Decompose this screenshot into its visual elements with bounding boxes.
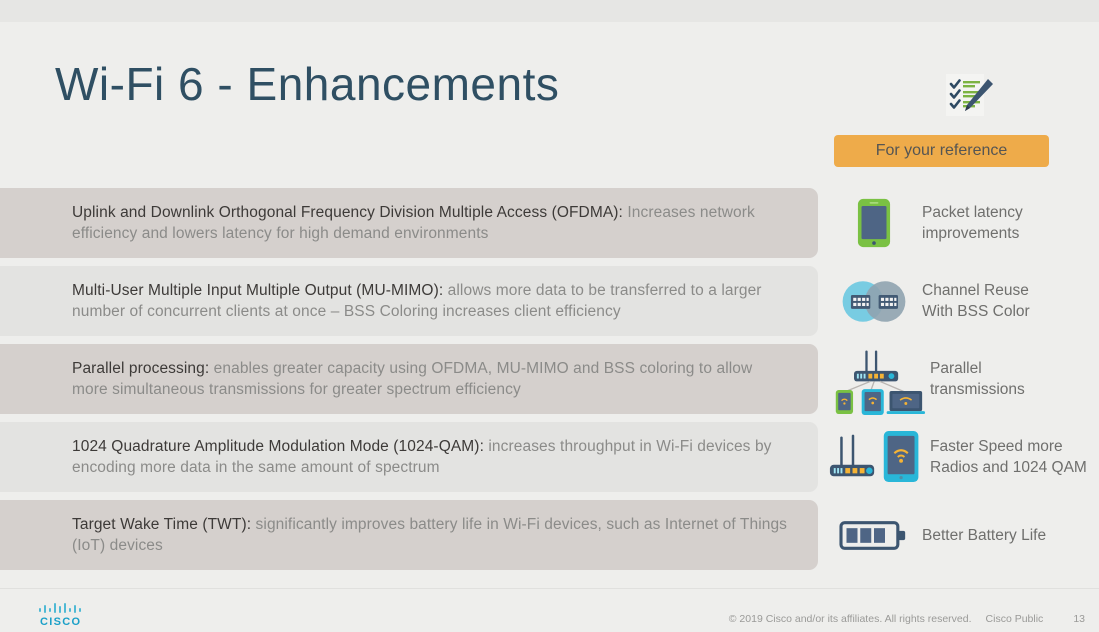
list-item: Target Wake Time (TWT): significantly im… bbox=[0, 500, 1099, 570]
row-text-panel: Uplink and Downlink Orthogonal Frequency… bbox=[0, 188, 818, 258]
footer-classification: Cisco Public bbox=[986, 613, 1044, 625]
battery-icon bbox=[826, 504, 922, 566]
row-side-panel: Parallel transmissions bbox=[826, 344, 1099, 414]
row-label: Channel Reuse With BSS Color bbox=[922, 280, 1030, 322]
row-description: Parallel processing: enables greater cap… bbox=[72, 358, 792, 400]
footer-divider bbox=[0, 588, 1099, 589]
row-lead: Target Wake Time (TWT): bbox=[72, 516, 251, 533]
checklist-pen-icon bbox=[940, 70, 998, 122]
overlapping-cells-icon bbox=[826, 270, 922, 332]
page-title: Wi-Fi 6 - Enhancements bbox=[55, 57, 559, 111]
row-text-panel: Parallel processing: enables greater cap… bbox=[0, 344, 818, 414]
row-label: Parallel transmissions bbox=[930, 358, 1025, 400]
row-lead: Uplink and Downlink Orthogonal Frequency… bbox=[72, 204, 623, 221]
row-label: Faster Speed more Radios and 1024 QAM bbox=[930, 436, 1087, 478]
for-your-reference-badge: For your reference bbox=[834, 135, 1049, 167]
list-item: Uplink and Downlink Orthogonal Frequency… bbox=[0, 188, 1099, 258]
row-text-panel: Multi-User Multiple Input Multiple Outpu… bbox=[0, 266, 818, 336]
svg-text:CISCO: CISCO bbox=[40, 616, 81, 627]
row-side-panel: Packet latency improvements bbox=[826, 188, 1099, 258]
ref-badge-label: For your reference bbox=[876, 142, 1008, 160]
enhancement-list: Uplink and Downlink Orthogonal Frequency… bbox=[0, 188, 1099, 578]
row-side-panel: Better Battery Life bbox=[826, 500, 1099, 570]
footer-page-number: 13 bbox=[1073, 613, 1085, 625]
row-label: Packet latency improvements bbox=[922, 202, 1023, 244]
row-lead: Parallel processing: bbox=[72, 360, 209, 377]
top-decorative-band bbox=[0, 0, 1099, 22]
row-text-panel: Target Wake Time (TWT): significantly im… bbox=[0, 500, 818, 570]
row-lead: Multi-User Multiple Input Multiple Outpu… bbox=[72, 282, 443, 299]
list-item: 1024 Quadrature Amplitude Modulation Mod… bbox=[0, 422, 1099, 492]
row-description: Target Wake Time (TWT): significantly im… bbox=[72, 514, 792, 556]
cisco-logo: CISCO bbox=[38, 601, 92, 625]
row-description: 1024 Quadrature Amplitude Modulation Mod… bbox=[72, 436, 792, 478]
list-item: Parallel processing: enables greater cap… bbox=[0, 344, 1099, 414]
row-description: Uplink and Downlink Orthogonal Frequency… bbox=[72, 202, 792, 244]
smartphone-icon bbox=[826, 192, 922, 254]
row-label: Better Battery Life bbox=[922, 525, 1046, 546]
router-tablet-icon bbox=[826, 426, 930, 488]
footer-copyright: © 2019 Cisco and/or its affiliates. All … bbox=[729, 613, 972, 625]
row-side-panel: Channel Reuse With BSS Color bbox=[826, 266, 1099, 336]
row-text-panel: 1024 Quadrature Amplitude Modulation Mod… bbox=[0, 422, 818, 492]
router-multiclient-icon bbox=[826, 348, 930, 410]
list-item: Multi-User Multiple Input Multiple Outpu… bbox=[0, 266, 1099, 336]
row-description: Multi-User Multiple Input Multiple Outpu… bbox=[72, 280, 792, 322]
row-lead: 1024 Quadrature Amplitude Modulation Mod… bbox=[72, 438, 484, 455]
footer-meta: © 2019 Cisco and/or its affiliates. All … bbox=[729, 613, 1085, 625]
row-side-panel: Faster Speed more Radios and 1024 QAM bbox=[826, 422, 1099, 492]
